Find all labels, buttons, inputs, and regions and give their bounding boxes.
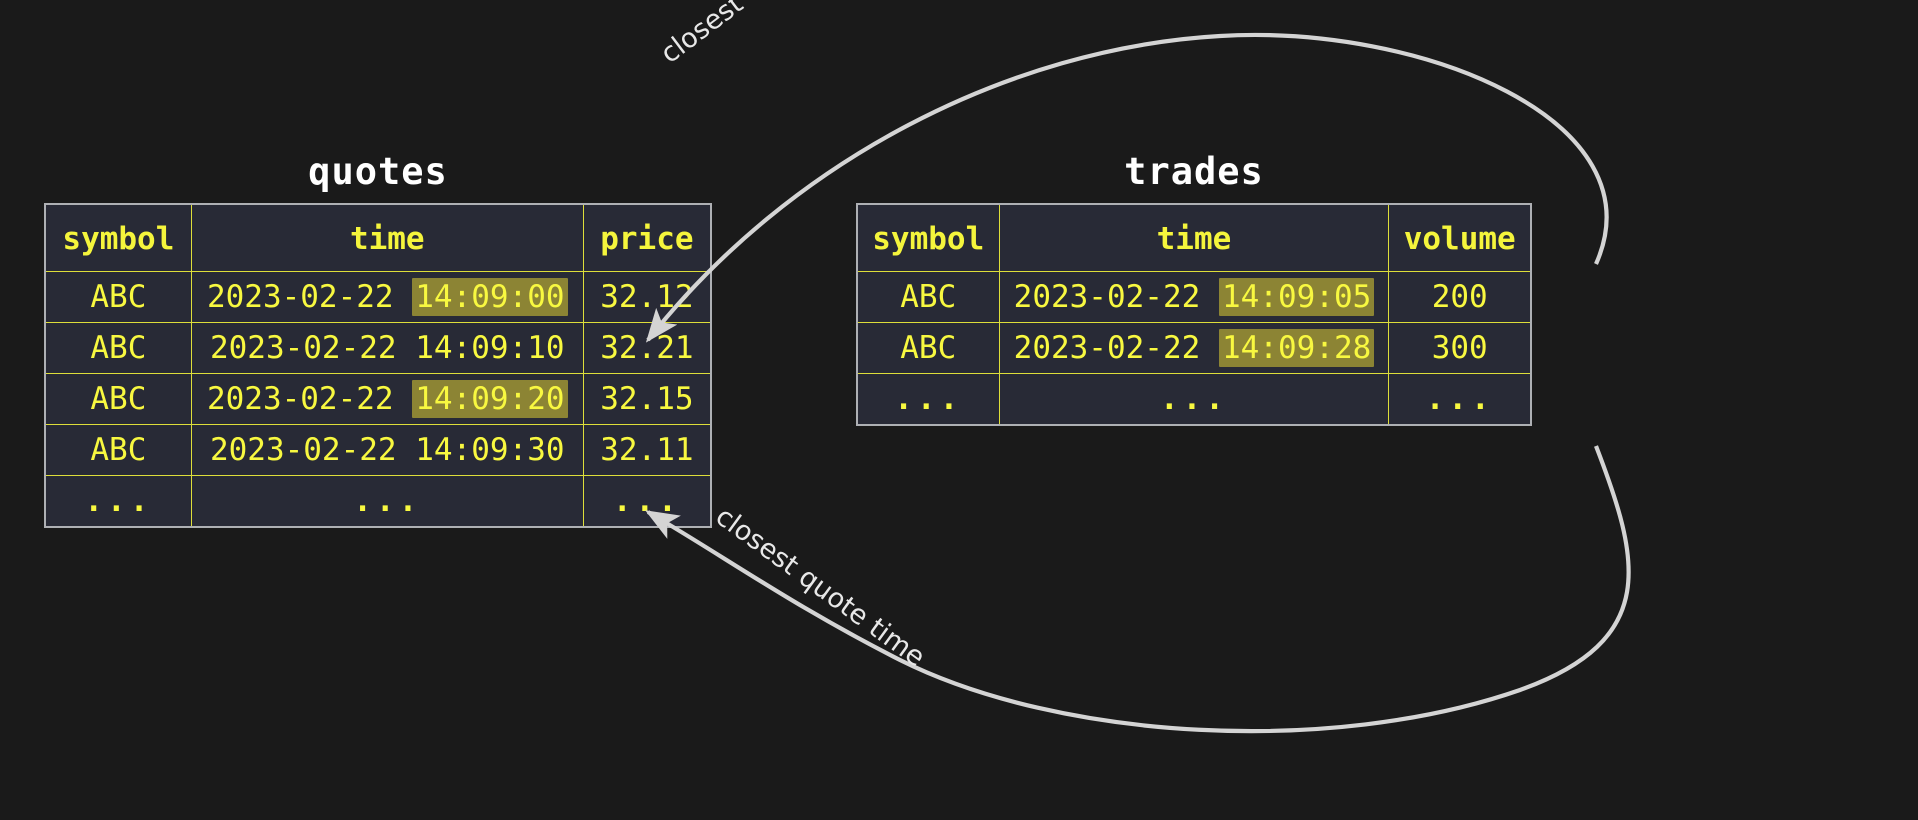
- quotes-table-title: quotes: [44, 150, 712, 193]
- cell-symbol: ABC: [46, 323, 191, 374]
- trades-table: symbol time volume ABC 2023-02-22 14:09:…: [858, 205, 1530, 424]
- table-row: ABC 2023-02-22 14:09:30 32.11: [46, 425, 710, 476]
- quotes-table: symbol time price ABC 2023-02-22 14:09:0…: [46, 205, 710, 526]
- cell-symbol: ABC: [858, 272, 999, 323]
- cell-date-text: 2023-02-22: [1014, 330, 1201, 366]
- cell-symbol-ellipsis: ...: [46, 476, 191, 527]
- cell-time-text: 14:09:30: [415, 432, 564, 468]
- column-header-time: time: [191, 205, 583, 272]
- cell-date-text: 2023-02-22: [207, 381, 394, 417]
- table-header-row: symbol time volume: [858, 205, 1530, 272]
- cell-date-text: 2023-02-22: [210, 432, 397, 468]
- annotation-label-bottom: closest quote time: [710, 501, 931, 673]
- cell-time: 2023-02-22 14:09:20: [191, 374, 583, 425]
- cell-symbol: ABC: [858, 323, 999, 374]
- cell-price: 32.12: [583, 272, 710, 323]
- diagram-canvas: quotes symbol time price ABC 2023-02-22 …: [0, 0, 1918, 820]
- cell-price: 32.11: [583, 425, 710, 476]
- cell-time: 2023-02-22 14:09:30: [191, 425, 583, 476]
- cell-date-text: 2023-02-22: [1014, 279, 1201, 315]
- trades-table-title: trades: [856, 150, 1532, 193]
- column-header-symbol: symbol: [858, 205, 999, 272]
- cell-time-highlight: 14:09:00: [412, 278, 567, 316]
- cell-time-ellipsis: ...: [999, 374, 1389, 425]
- cell-time-highlight: 14:09:05: [1219, 278, 1374, 316]
- column-header-symbol: symbol: [46, 205, 191, 272]
- cell-volume-ellipsis: ...: [1389, 374, 1530, 425]
- cell-time: 2023-02-22 14:09:28: [999, 323, 1389, 374]
- cell-time-highlight: 14:09:20: [412, 380, 567, 418]
- cell-volume: 300: [1389, 323, 1530, 374]
- column-header-price: price: [583, 205, 710, 272]
- cell-date-text: 2023-02-22: [207, 279, 394, 315]
- annotation-label-top: closest quote time: [655, 0, 874, 70]
- table-row-ellipsis: ... ... ...: [46, 476, 710, 527]
- cell-symbol: ABC: [46, 374, 191, 425]
- cell-date-text: 2023-02-22: [210, 330, 397, 366]
- trades-table-block: trades symbol time volume ABC 2023-02-22…: [856, 150, 1532, 426]
- cell-symbol: ABC: [46, 425, 191, 476]
- cell-symbol-ellipsis: ...: [858, 374, 999, 425]
- cell-time: 2023-02-22 14:09:05: [999, 272, 1389, 323]
- quotes-table-block: quotes symbol time price ABC 2023-02-22 …: [44, 150, 712, 528]
- cell-volume: 200: [1389, 272, 1530, 323]
- cell-time: 2023-02-22 14:09:10: [191, 323, 583, 374]
- trades-table-frame: symbol time volume ABC 2023-02-22 14:09:…: [856, 203, 1532, 426]
- cell-price: 32.15: [583, 374, 710, 425]
- cell-price: 32.21: [583, 323, 710, 374]
- table-header-row: symbol time price: [46, 205, 710, 272]
- cell-symbol: ABC: [46, 272, 191, 323]
- column-header-volume: volume: [1389, 205, 1530, 272]
- column-header-time: time: [999, 205, 1389, 272]
- cell-time: 2023-02-22 14:09:00: [191, 272, 583, 323]
- table-row: ABC 2023-02-22 14:09:10 32.21: [46, 323, 710, 374]
- table-row: ABC 2023-02-22 14:09:28 300: [858, 323, 1530, 374]
- cell-time-text: 14:09:10: [415, 330, 564, 366]
- table-row: ABC 2023-02-22 14:09:05 200: [858, 272, 1530, 323]
- cell-time-ellipsis: ...: [191, 476, 583, 527]
- quotes-table-frame: symbol time price ABC 2023-02-22 14:09:0…: [44, 203, 712, 528]
- table-row-ellipsis: ... ... ...: [858, 374, 1530, 425]
- table-row: ABC 2023-02-22 14:09:20 32.15: [46, 374, 710, 425]
- table-row: ABC 2023-02-22 14:09:00 32.12: [46, 272, 710, 323]
- cell-price-ellipsis: ...: [583, 476, 710, 527]
- cell-time-highlight: 14:09:28: [1219, 329, 1374, 367]
